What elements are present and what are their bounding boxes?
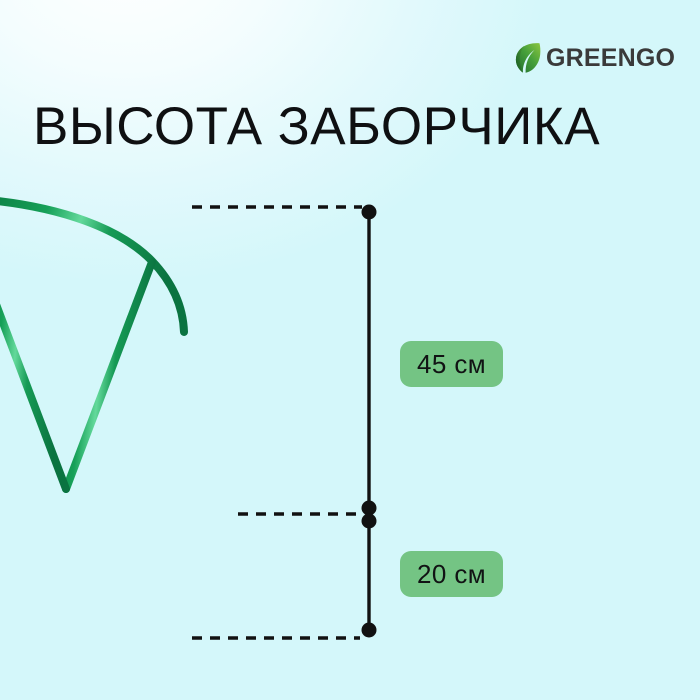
dimension-endpoint-top — [362, 205, 377, 220]
v-brace-right — [66, 262, 152, 489]
fence-section — [0, 200, 188, 636]
measurement-label-45: 45 см — [417, 349, 486, 380]
arched-fence-frame — [0, 200, 184, 332]
measurement-label-20: 20 см — [417, 559, 486, 590]
fence-height-diagram — [0, 0, 700, 700]
dimension-lines — [362, 205, 377, 638]
diagram-canvas: GREENGO ВЫСОТА ЗАБОРЧИКА — [0, 0, 700, 700]
measurement-badge-45: 45 см — [400, 341, 503, 387]
v-brace-left — [0, 262, 66, 489]
dimension-endpoint-mid-lower — [362, 514, 377, 529]
dimension-endpoint-mid-upper — [362, 501, 377, 516]
dimension-endpoint-bottom — [362, 623, 377, 638]
measurement-badge-20: 20 см — [400, 551, 503, 597]
